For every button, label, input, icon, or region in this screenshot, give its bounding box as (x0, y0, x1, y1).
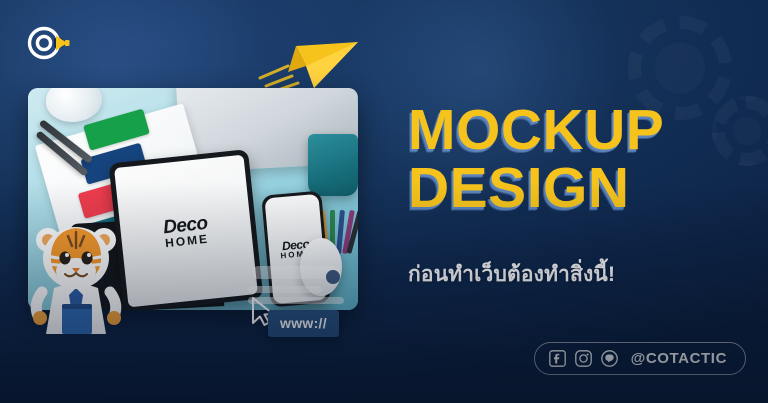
subheadline: ก่อนทำเว็บต้องทำสิ่งนี้! (408, 258, 615, 291)
facebook-icon[interactable] (549, 350, 566, 367)
tablet-brand-label: Deco HOME (162, 213, 209, 248)
headline-line-1: MOCKUP (408, 104, 738, 156)
headline: MOCKUP DESIGN (408, 104, 738, 215)
tablet-mockup: Deco HOME (109, 149, 264, 310)
social-handle-text: @COTACTIC (631, 350, 727, 367)
promo-banner: Deco HOME Deco HOME (0, 0, 768, 403)
slider-knob (326, 270, 340, 284)
cotactic-logo[interactable] (22, 22, 76, 64)
paper-plane-icon (258, 28, 366, 92)
social-handle-pill[interactable]: @COTACTIC (534, 342, 746, 375)
headline-line-2: DESIGN (408, 162, 738, 214)
pencil-cup (308, 134, 358, 196)
tiger-mascot (24, 214, 128, 336)
www-badge: www:// (268, 310, 339, 337)
slider-track (252, 266, 340, 279)
slider-bar (248, 286, 322, 293)
tablet-brand-line2: HOME (164, 232, 209, 249)
tablet-screen: Deco HOME (114, 155, 258, 308)
line-icon[interactable] (601, 350, 618, 367)
instagram-icon[interactable] (575, 350, 592, 367)
